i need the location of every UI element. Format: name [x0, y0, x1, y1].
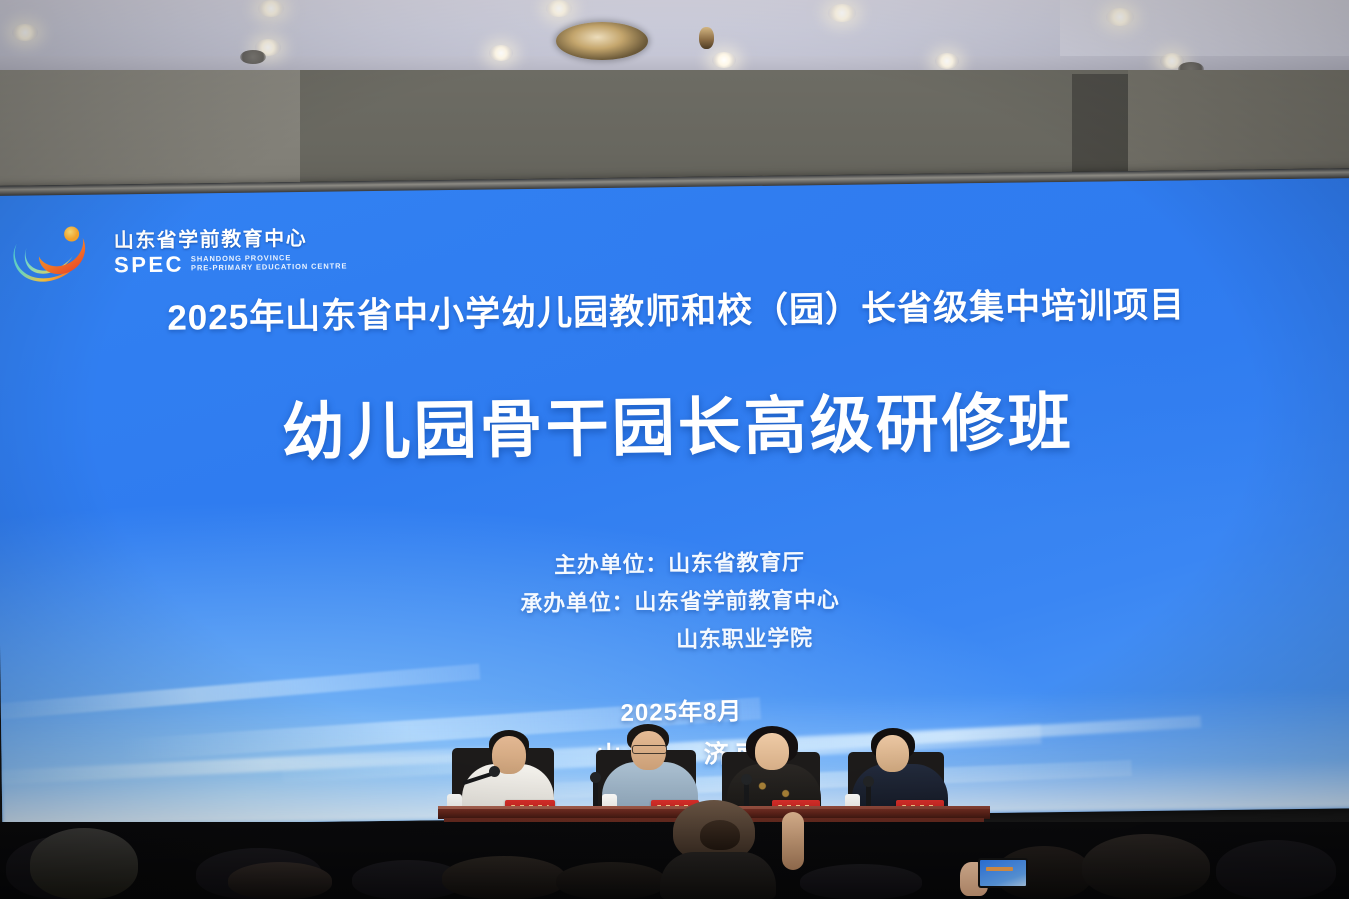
ceiling-spotlight — [546, 0, 572, 17]
panelist-head — [876, 735, 909, 772]
logo-chinese-name: 山东省学前教育中心 — [114, 228, 347, 251]
eyeglasses-icon — [632, 745, 667, 754]
ceiling-spotlight — [935, 53, 959, 69]
ceiling-spotlight — [12, 24, 38, 41]
ceiling-spotlight — [828, 4, 856, 22]
audience-raised-arm — [782, 812, 804, 870]
spec-logo-mark-icon — [8, 223, 105, 286]
spec-logo-text: 山东省学前教育中心 SPEC SHANDONG PROVINCE PRE-PRI… — [114, 228, 348, 276]
ceiling-spotlight — [712, 52, 736, 68]
microphone-head-icon — [741, 774, 752, 785]
logo-acronym: SPEC — [114, 253, 184, 276]
ceiling-spotlight — [1106, 8, 1134, 26]
audience-bun-icon — [700, 820, 740, 850]
audience-head — [228, 862, 332, 899]
smartphone[interactable] — [978, 858, 1028, 888]
audience-shoulders — [660, 852, 776, 899]
microphone-head-icon — [863, 776, 874, 787]
audience-head — [442, 856, 566, 899]
audience-head — [30, 828, 138, 899]
microphone-head-icon — [590, 772, 601, 783]
audience-head — [800, 864, 922, 899]
ceiling-spotlight — [258, 0, 284, 17]
smartphone-screen — [980, 860, 1026, 886]
audience-head — [1082, 834, 1210, 899]
logo-english-line2: PRE-PRIMARY EDUCATION CENTRE — [191, 262, 347, 273]
back-wall-left-panel — [0, 70, 300, 200]
audience-head — [556, 862, 666, 899]
audience-head — [1216, 840, 1336, 899]
conference-photo: 山东省学前教育中心 SPEC SHANDONG PROVINCE PRE-PRI… — [0, 0, 1349, 899]
program-line: 2025年山东省中小学幼儿园教师和校（园）长省级集中培训项目 — [0, 274, 1349, 343]
ceiling-recessed-fixture — [240, 50, 266, 64]
main-title: 幼儿园骨干园长高级研修班 — [0, 368, 1349, 477]
microphone-head-icon — [489, 766, 500, 777]
spec-logo: 山东省学前教育中心 SPEC SHANDONG PROVINCE PRE-PRI… — [8, 219, 347, 285]
ceiling-sensor — [699, 27, 714, 49]
panelist-head — [755, 733, 789, 770]
ceiling-dome-light — [556, 22, 648, 60]
organizers-block: 主办单位：山东省教育厅 承办单位：山东省学前教育中心 山东职业学院 — [0, 536, 1349, 667]
ceiling-spotlight — [489, 45, 513, 61]
